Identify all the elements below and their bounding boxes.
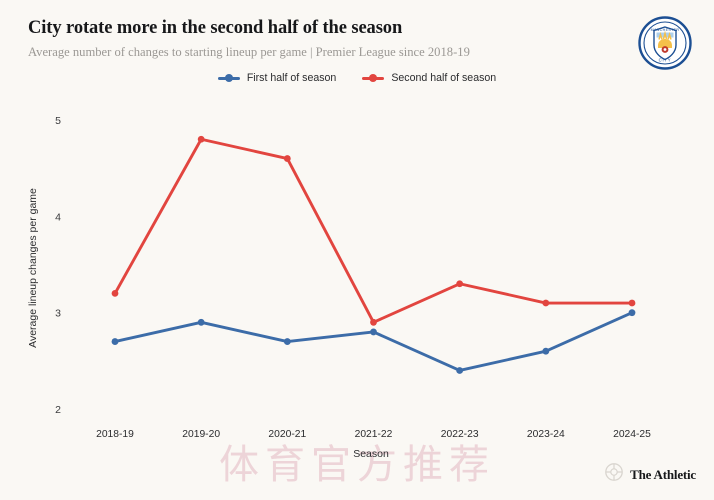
series-layer <box>112 136 636 374</box>
x-axis-tick-label: 2024-25 <box>613 429 651 440</box>
data-point[interactable] <box>284 155 291 162</box>
line-chart-svg: 2345 2018-192019-202020-212021-222022-23… <box>0 0 714 500</box>
data-point[interactable] <box>370 329 377 336</box>
x-axis-tick-label: 2018-19 <box>96 429 134 440</box>
plot-area: 2345 2018-192019-202020-212021-222022-23… <box>0 0 714 500</box>
x-axis-tick-label: 2023-24 <box>527 429 565 440</box>
data-point[interactable] <box>456 280 463 287</box>
y-axis-tick-labels: 2345 <box>55 115 61 416</box>
data-point[interactable] <box>629 309 636 316</box>
data-point[interactable] <box>112 338 119 345</box>
x-axis-title: Season <box>353 448 389 460</box>
x-axis-tick-label: 2021-22 <box>355 429 393 440</box>
the-athletic-logo-icon <box>605 463 623 486</box>
y-axis-tick-label: 3 <box>55 308 61 320</box>
data-point[interactable] <box>112 290 119 297</box>
y-axis-title: Average lineup changes per game <box>27 188 39 348</box>
data-point[interactable] <box>284 338 291 345</box>
series-line <box>115 139 632 322</box>
y-axis-tick-label: 2 <box>55 404 61 416</box>
data-point[interactable] <box>198 319 205 326</box>
data-point[interactable] <box>542 348 549 355</box>
x-axis-tick-label: 2019-20 <box>182 429 220 440</box>
data-point[interactable] <box>456 367 463 374</box>
series-second-half <box>112 136 636 326</box>
x-axis-tick-label: 2022-23 <box>441 429 479 440</box>
data-point[interactable] <box>198 136 205 143</box>
data-point[interactable] <box>542 300 549 307</box>
footer-brand: The Athletic <box>605 463 696 486</box>
data-point[interactable] <box>629 300 636 307</box>
x-axis-tick-label: 2020-21 <box>268 429 306 440</box>
y-axis-tick-label: 4 <box>55 211 61 223</box>
chart-screenshot: City rotate more in the second half of t… <box>0 0 714 500</box>
data-point[interactable] <box>370 319 377 326</box>
y-axis-tick-label: 5 <box>55 115 61 127</box>
footer-brand-text: The Athletic <box>630 467 696 483</box>
x-axis-tick-labels: 2018-192019-202020-212021-222022-232023-… <box>96 429 651 440</box>
